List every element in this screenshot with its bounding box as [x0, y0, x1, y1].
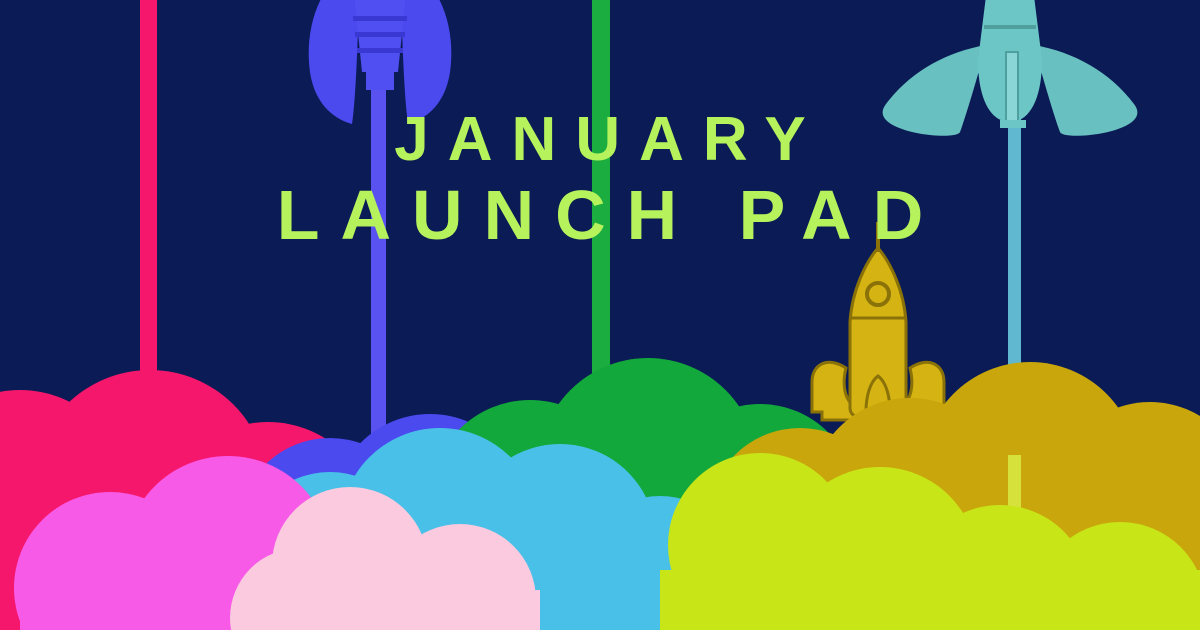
illustration-canvas	[0, 0, 1200, 630]
gold-rocket-porthole	[867, 283, 889, 305]
teal-rocket-nozzle	[1006, 52, 1018, 126]
gold-rocket-antenna	[876, 222, 880, 252]
green-trail	[592, 0, 610, 405]
launch-pad-graphic: JANUARY LAUNCH PAD	[0, 0, 1200, 630]
teal-rocket-collar	[1000, 120, 1026, 128]
teal-rocket-band	[984, 25, 1036, 29]
blue-rocket-nozzle	[366, 72, 394, 90]
